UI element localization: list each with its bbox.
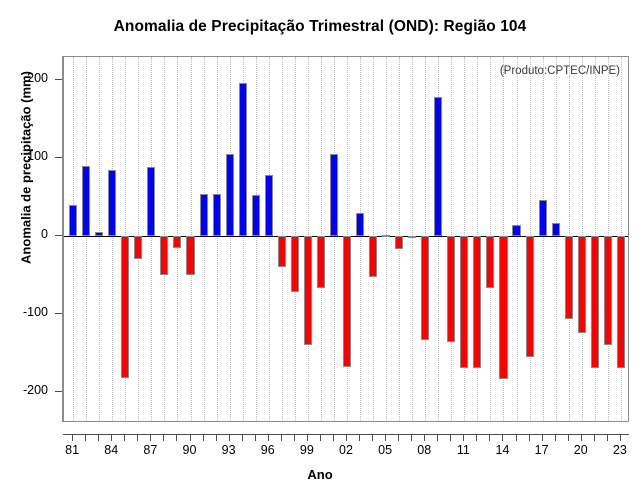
x-tick-2011 <box>463 434 464 441</box>
x-tick-2022 <box>607 434 608 441</box>
bar-2007 <box>408 236 416 238</box>
x-tick-label-02: 02 <box>326 443 366 457</box>
bar-2003 <box>356 213 364 236</box>
y-tick-label--200: -200 <box>0 383 48 397</box>
x-tick-1989 <box>176 434 177 441</box>
x-tick-1997 <box>281 434 282 441</box>
x-tick-2001 <box>333 434 334 441</box>
x-tick-2006 <box>398 434 399 441</box>
bar-2021 <box>591 236 599 368</box>
source-annotation: (Produto:CPTEC/INPE) <box>500 65 620 77</box>
gridline-2005 <box>386 57 387 421</box>
x-tick-2021 <box>594 434 595 441</box>
bar-2014 <box>499 236 507 379</box>
bar-1995 <box>252 195 260 236</box>
x-tick-label-99: 99 <box>287 443 327 457</box>
gridline-1987 <box>151 57 152 421</box>
bar-1989 <box>173 236 181 248</box>
x-tick-label-84: 84 <box>91 443 131 457</box>
x-tick-2000 <box>320 434 321 441</box>
gridline-1984 <box>112 57 113 421</box>
x-tick-2002 <box>346 434 347 441</box>
gridline-1991 <box>204 57 205 421</box>
x-tick-2014 <box>502 434 503 441</box>
y-tick-100 <box>55 157 62 158</box>
bar-1983 <box>95 232 103 236</box>
bar-1986 <box>134 236 142 259</box>
bar-1997 <box>278 236 286 267</box>
bar-1981 <box>69 205 77 236</box>
x-tick-label-14: 14 <box>482 443 522 457</box>
x-tick-1991 <box>203 434 204 441</box>
bar-1991 <box>200 194 208 236</box>
y-tick-0 <box>55 235 62 236</box>
gridline-1982 <box>86 57 87 421</box>
x-axis-title: Ano <box>0 467 640 482</box>
bar-2019 <box>565 236 573 319</box>
x-tick-label-11: 11 <box>443 443 483 457</box>
bar-2008 <box>421 236 429 340</box>
x-tick-1993 <box>229 434 230 441</box>
x-tick-2004 <box>372 434 373 441</box>
x-tick-1994 <box>242 434 243 441</box>
plot-area: (Produto:CPTEC/INPE) <box>63 56 629 422</box>
x-tick-label-05: 05 <box>365 443 405 457</box>
y-tick-200 <box>55 79 62 80</box>
gridline-1992 <box>217 57 218 421</box>
y-tick--100 <box>55 313 62 314</box>
x-tick-1986 <box>137 434 138 441</box>
x-tick-2017 <box>542 434 543 441</box>
x-tick-1988 <box>163 434 164 441</box>
x-tick-1998 <box>294 434 295 441</box>
gridline-1981 <box>73 57 74 421</box>
x-tick-2008 <box>424 434 425 441</box>
bar-1987 <box>147 167 155 236</box>
bar-2023 <box>617 236 625 368</box>
bar-2022 <box>604 236 612 345</box>
bar-2004 <box>369 236 377 276</box>
x-tick-1984 <box>111 434 112 441</box>
bar-2018 <box>552 223 560 236</box>
bar-2000 <box>317 236 325 288</box>
bar-2015 <box>512 225 520 236</box>
chart-title: Anomalia de Precipitação Trimestral (OND… <box>0 18 640 36</box>
x-tick-2009 <box>437 434 438 441</box>
y-axis-line <box>62 56 63 422</box>
precipitation-anomaly-chart: Anomalia de Precipitação Trimestral (OND… <box>0 0 640 500</box>
x-tick-1982 <box>85 434 86 441</box>
gridline-2015 <box>517 57 518 421</box>
bar-2011 <box>460 236 468 368</box>
gridline-2018 <box>556 57 557 421</box>
x-tick-label-90: 90 <box>170 443 210 457</box>
y-axis-title: Anomalia de precipitação (mm) <box>19 8 34 328</box>
gridline-1996 <box>269 57 270 421</box>
bar-2020 <box>578 236 586 333</box>
gridline-1993 <box>230 57 231 421</box>
x-tick-label-93: 93 <box>209 443 249 457</box>
gridline-2001 <box>334 57 335 421</box>
bar-2005 <box>382 235 390 237</box>
gridline-2017 <box>543 57 544 421</box>
x-tick-2005 <box>385 434 386 441</box>
bar-2001 <box>330 154 338 236</box>
x-tick-1999 <box>307 434 308 441</box>
x-tick-2018 <box>555 434 556 441</box>
bar-1985 <box>121 236 129 378</box>
x-tick-label-87: 87 <box>130 443 170 457</box>
bar-1992 <box>213 194 221 236</box>
bar-2006 <box>395 236 403 249</box>
x-tick-label-17: 17 <box>522 443 562 457</box>
bar-1994 <box>239 83 247 236</box>
x-tick-label-08: 08 <box>404 443 444 457</box>
gridline-2003 <box>360 57 361 421</box>
x-tick-label-23: 23 <box>600 443 640 457</box>
x-tick-2023 <box>620 434 621 441</box>
x-tick-2013 <box>489 434 490 441</box>
bar-1990 <box>186 236 194 275</box>
bar-2016 <box>526 236 534 357</box>
bar-2010 <box>447 236 455 342</box>
gridline-1983 <box>99 57 100 421</box>
bar-1999 <box>304 236 312 345</box>
x-tick-2007 <box>411 434 412 441</box>
x-tick-label-20: 20 <box>561 443 601 457</box>
x-tick-1983 <box>98 434 99 441</box>
bar-1996 <box>265 175 273 236</box>
x-tick-2003 <box>359 434 360 441</box>
x-tick-1992 <box>216 434 217 441</box>
x-tick-2010 <box>450 434 451 441</box>
gridline-1995 <box>256 57 257 421</box>
bar-2002 <box>343 236 351 367</box>
x-tick-2016 <box>529 434 530 441</box>
x-tick-2015 <box>516 434 517 441</box>
x-tick-2019 <box>568 434 569 441</box>
bar-1982 <box>82 166 90 236</box>
x-tick-2020 <box>581 434 582 441</box>
bar-2012 <box>473 236 481 368</box>
x-tick-2012 <box>476 434 477 441</box>
y-tick--200 <box>55 391 62 392</box>
bar-1993 <box>226 154 234 237</box>
bar-1984 <box>108 170 116 236</box>
x-tick-1996 <box>268 434 269 441</box>
x-tick-1981 <box>72 434 73 441</box>
x-tick-1985 <box>124 434 125 441</box>
bar-1988 <box>160 236 168 275</box>
gridline-2007 <box>412 57 413 421</box>
x-tick-1987 <box>150 434 151 441</box>
bar-2009 <box>434 97 442 236</box>
x-tick-1995 <box>255 434 256 441</box>
bar-2013 <box>486 236 494 288</box>
x-tick-1990 <box>190 434 191 441</box>
bar-1998 <box>291 236 299 292</box>
x-tick-label-81: 81 <box>52 443 92 457</box>
x-tick-label-96: 96 <box>248 443 288 457</box>
bar-2017 <box>539 200 547 236</box>
